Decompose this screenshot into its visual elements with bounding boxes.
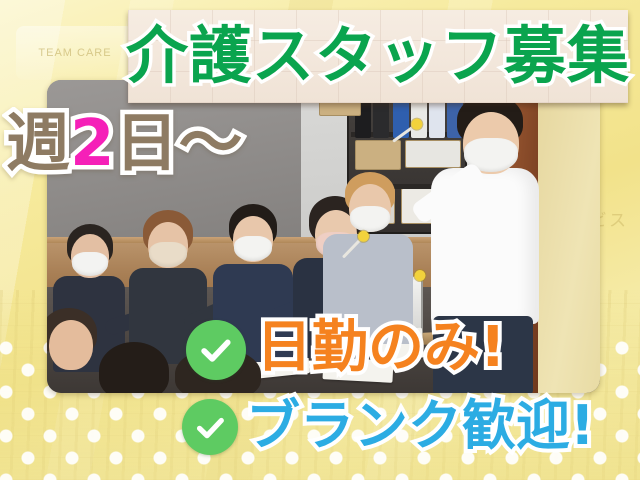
banner-title: 介護スタッフ募集 [126, 25, 630, 87]
photo-box [405, 140, 461, 168]
photo-door-panel [538, 80, 600, 393]
headline-part-number: 2 [70, 107, 115, 181]
feature-row-blank-welcome: ブランク歓迎! [182, 399, 595, 455]
photo-box [355, 140, 401, 170]
headline-part-day: 日 [115, 107, 179, 181]
headline-banner: 介護スタッフ募集 [128, 10, 628, 103]
shift-frequency-headline: 週2日〜 [6, 112, 243, 176]
headline-part-week: 週 [6, 107, 70, 181]
background-ghost-logo: TEAM CARE [16, 26, 134, 80]
feature-label-blank-welcome: ブランク歓迎! [246, 399, 595, 453]
recruitment-poster: TEAM CARE サービス [0, 0, 640, 480]
headline-part-tilde: 〜 [179, 107, 243, 181]
feature-label-daytime-only: 日勤のみ! [256, 320, 506, 376]
feature-row-daytime-only: 日勤のみ! [186, 320, 506, 380]
check-circle-icon [186, 320, 246, 380]
check-circle-icon [182, 399, 238, 455]
